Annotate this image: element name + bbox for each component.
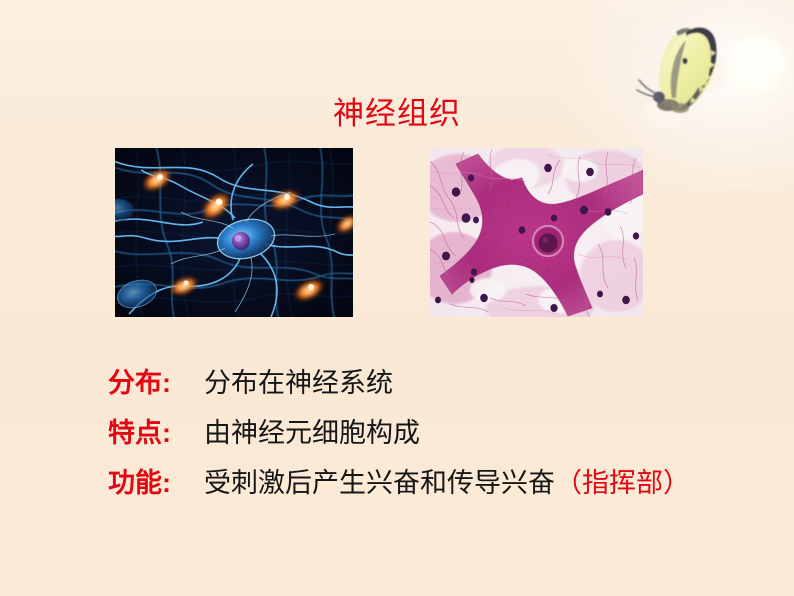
content-block: 分布: 分布在神经系统 特点: 由神经元细胞构成 功能: 受刺激后产生兴奋和传导… [108, 358, 794, 508]
content-line-feature: 特点: 由神经元细胞构成 [108, 408, 794, 458]
slide-canvas: 神经组织 [0, 0, 794, 596]
slide-title: 神经组织 [0, 96, 794, 132]
content-line-distribution: 分布: 分布在神经系统 [108, 358, 794, 408]
text-feature: 由神经元细胞构成 [204, 408, 420, 458]
text-function-accent: （指挥部） [555, 458, 690, 508]
image-neuron-network-illustration [115, 148, 353, 317]
text-distribution: 分布在神经系统 [204, 358, 393, 408]
label-function: 功能: [108, 458, 204, 508]
label-feature: 特点: [108, 408, 204, 458]
image-neuron-micrograph [430, 148, 643, 317]
label-distribution: 分布: [108, 358, 204, 408]
text-function: 受刺激后产生兴奋和传导兴奋 [204, 458, 555, 508]
content-line-function: 功能: 受刺激后产生兴奋和传导兴奋 （指挥部） [108, 458, 794, 508]
